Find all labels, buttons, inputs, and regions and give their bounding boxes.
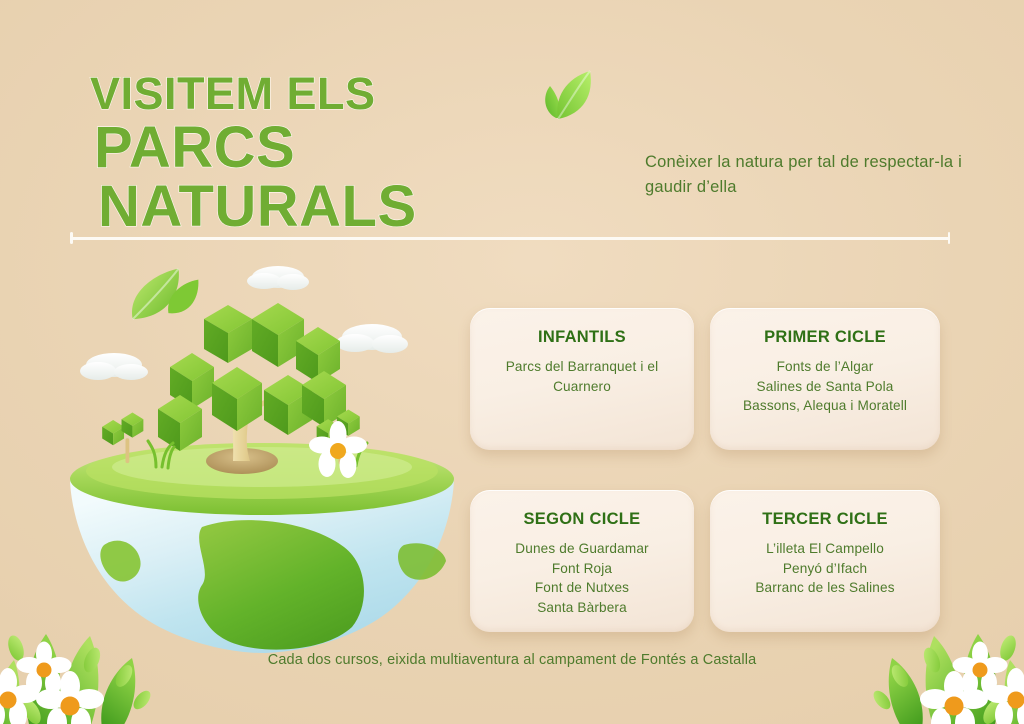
globe-illustration xyxy=(52,255,472,655)
corner-foliage-right xyxy=(815,600,1024,724)
cycle-card-infantils: INFANTILS Parcs del Barranquet i el Cuar… xyxy=(470,308,694,450)
poster-canvas: VISITEM ELS PARCS NATURALS Conèixer la n… xyxy=(0,0,1024,724)
card-line: Cuarnero xyxy=(480,377,684,397)
card-line: Santa Bàrbera xyxy=(480,598,684,618)
cloud-icon xyxy=(80,353,148,380)
card-line: Parcs del Barranquet i el xyxy=(480,357,684,377)
cycle-card-primer-cicle: PRIMER CICLE Fonts de l’Algar Salines de… xyxy=(710,308,940,450)
cloud-icon xyxy=(336,324,408,353)
divider-bar xyxy=(70,237,950,240)
title-line-1: VISITEM ELS xyxy=(90,72,648,116)
card-park-list: Fonts de l’Algar Salines de Santa Pola B… xyxy=(710,357,940,416)
card-title: SEGON CICLE xyxy=(470,510,694,529)
cloud-icon xyxy=(247,266,309,290)
card-line: Font Roja xyxy=(480,559,684,579)
cycle-card-segon-cicle: SEGON CICLE Dunes de Guardamar Font Roja… xyxy=(470,490,694,632)
card-line: Dunes de Guardamar xyxy=(480,539,684,559)
globe-landmass xyxy=(398,543,446,580)
title-line-3: NATURALS xyxy=(98,179,648,236)
card-line: Penyó d’Ifach xyxy=(720,559,930,579)
card-title: TERCER CICLE xyxy=(710,510,940,529)
card-line: L’illeta El Campello xyxy=(720,539,930,559)
card-park-list: Dunes de Guardamar Font Roja Font de Nut… xyxy=(470,539,694,618)
card-title: INFANTILS xyxy=(470,328,694,347)
card-title: PRIMER CICLE xyxy=(710,328,940,347)
page-title: VISITEM ELS PARCS NATURALS xyxy=(88,72,648,236)
corner-foliage-left xyxy=(0,600,209,724)
card-park-list: Parcs del Barranquet i el Cuarnero xyxy=(470,357,694,396)
leaf-icon xyxy=(123,264,206,325)
card-line: Font de Nutxes xyxy=(480,578,684,598)
card-line: Fonts de l’Algar xyxy=(720,357,930,377)
divider-cap-right xyxy=(948,232,951,244)
card-line: Salines de Santa Pola xyxy=(720,377,930,397)
card-line: Bassons, Alequa i Moratell xyxy=(720,396,930,416)
title-divider xyxy=(70,232,950,244)
card-line: Barranc de les Salines xyxy=(720,578,930,598)
card-park-list: L’illeta El Campello Penyó d’Ifach Barra… xyxy=(710,539,940,598)
subtitle-text: Conèixer la natura per tal de respectar-… xyxy=(645,150,965,200)
title-line-2: PARCS xyxy=(94,120,648,177)
